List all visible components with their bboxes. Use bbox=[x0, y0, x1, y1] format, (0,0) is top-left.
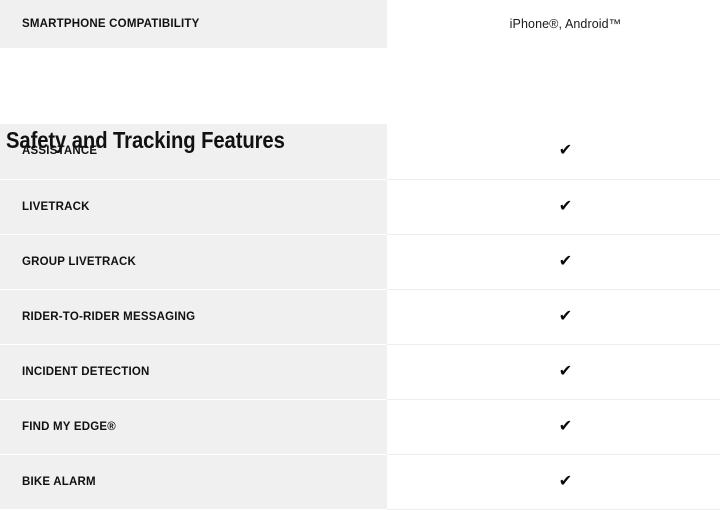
check-icon: ✔ bbox=[559, 473, 572, 489]
spec-value-find-my-edge: ✔ bbox=[387, 399, 720, 454]
check-icon: ✔ bbox=[559, 418, 572, 434]
table-body: ASSISTANCE ✔ LIVETRACK ✔ GROUP LIVETRACK… bbox=[0, 124, 720, 509]
table-row: BIKE ALARM ✔ bbox=[0, 454, 720, 509]
spec-value-incident-detection: ✔ bbox=[387, 344, 720, 399]
spec-label-livetrack: LIVETRACK bbox=[0, 179, 387, 234]
page-title: Safety and Tracking Features bbox=[6, 127, 285, 154]
spec-label-bike-alarm: BIKE ALARM bbox=[0, 454, 387, 509]
check-icon: ✔ bbox=[559, 198, 572, 214]
spec-value-group-livetrack: ✔ bbox=[387, 234, 720, 289]
spec-label-rider-to-rider-messaging: RIDER-TO-RIDER MESSAGING bbox=[0, 289, 387, 344]
smartphone-compatibility-table: SMARTPHONE COMPATIBILITY iPhone®, Androi… bbox=[0, 0, 720, 48]
check-icon: ✔ bbox=[559, 363, 572, 379]
safety-tracking-features-table: ASSISTANCE ✔ LIVETRACK ✔ GROUP LIVETRACK… bbox=[0, 124, 720, 510]
table-row: RIDER-TO-RIDER MESSAGING ✔ bbox=[0, 289, 720, 344]
spec-comparison-page: SMARTPHONE COMPATIBILITY iPhone®, Androi… bbox=[0, 0, 720, 507]
spec-label-group-livetrack: GROUP LIVETRACK bbox=[0, 234, 387, 289]
check-icon: ✔ bbox=[559, 253, 572, 269]
table-row: SMARTPHONE COMPATIBILITY iPhone®, Androi… bbox=[0, 0, 720, 48]
table-row: INCIDENT DETECTION ✔ bbox=[0, 344, 720, 399]
spec-label-smartphone-compatibility: SMARTPHONE COMPATIBILITY bbox=[0, 0, 387, 48]
section-heading-zone: Safety and Tracking Features bbox=[0, 48, 720, 124]
spec-value-livetrack: ✔ bbox=[387, 179, 720, 234]
spec-value-bike-alarm: ✔ bbox=[387, 454, 720, 509]
spec-value-smartphone-compatibility: iPhone®, Android™ bbox=[387, 0, 720, 48]
check-icon: ✔ bbox=[559, 142, 572, 158]
table-row: FIND MY EDGE® ✔ bbox=[0, 399, 720, 454]
spec-label-incident-detection: INCIDENT DETECTION bbox=[0, 344, 387, 399]
spec-label-find-my-edge: FIND MY EDGE® bbox=[0, 399, 387, 454]
check-icon: ✔ bbox=[559, 308, 572, 324]
spec-value-rider-to-rider-messaging: ✔ bbox=[387, 289, 720, 344]
table-row: LIVETRACK ✔ bbox=[0, 179, 720, 234]
spec-value-assistance: ✔ bbox=[387, 124, 720, 179]
table-row: GROUP LIVETRACK ✔ bbox=[0, 234, 720, 289]
